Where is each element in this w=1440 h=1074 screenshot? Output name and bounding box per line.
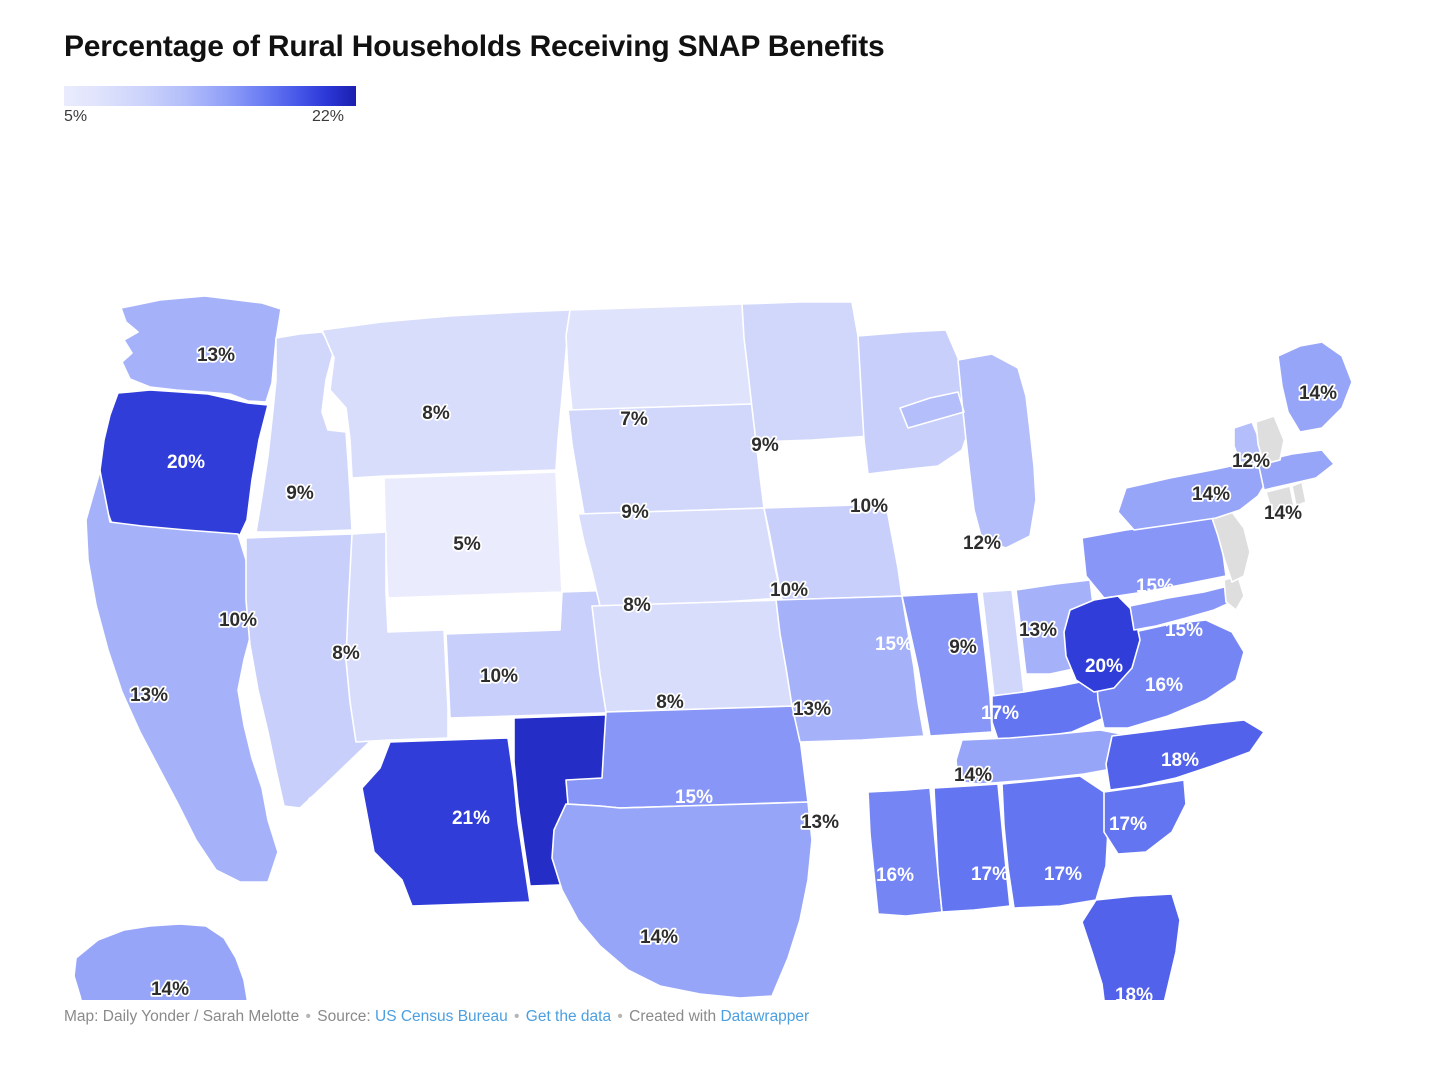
value-label-nd: 7% — [620, 409, 648, 430]
value-label-wv: 20% — [1085, 656, 1123, 677]
state-mo[interactable] — [776, 596, 924, 742]
color-legend: 5% 22% — [64, 86, 356, 128]
legend-gradient-bar — [64, 86, 356, 106]
value-label-ms: 16% — [876, 865, 914, 886]
footer-created-label: Created with — [629, 1008, 716, 1025]
value-label-fl: 18% — [1115, 985, 1153, 1000]
value-label-mo: 13% — [793, 699, 831, 720]
value-label-ok: 15% — [675, 787, 713, 808]
footer-source-label: Source: — [317, 1008, 370, 1025]
value-label-nv: 10% — [219, 610, 257, 631]
value-label-al: 17% — [971, 864, 1009, 885]
value-label-mn: 9% — [751, 435, 779, 456]
value-label-ga: 17% — [1044, 864, 1082, 885]
value-label-ma: 14% — [1264, 503, 1302, 524]
value-label-ar: 13% — [801, 812, 839, 833]
value-label-co: 10% — [480, 666, 518, 687]
state-al[interactable] — [934, 784, 1010, 912]
value-label-sc: 17% — [1109, 814, 1147, 835]
footer-separator-1: • — [304, 1008, 313, 1025]
value-label-vt: 12% — [1232, 451, 1270, 472]
value-label-ak: 14% — [151, 979, 189, 1000]
choropleth-map: 17%14%20%13%13%10%18%17%16%9%15%9%10%8%1… — [0, 140, 1440, 1000]
state-tx[interactable] — [552, 802, 812, 998]
state-mn[interactable] — [742, 302, 870, 442]
state-ga[interactable] — [1002, 776, 1108, 908]
state-ca[interactable] — [86, 471, 278, 882]
get-the-data-link[interactable]: Get the data — [526, 1008, 611, 1025]
page-title: Percentage of Rural Households Receiving… — [64, 30, 885, 64]
value-label-ia: 10% — [770, 580, 808, 601]
chart-container: Percentage of Rural Households Receiving… — [0, 0, 1440, 1074]
legend-min-label: 5% — [64, 108, 87, 126]
value-label-sd: 9% — [621, 502, 649, 523]
state-ms[interactable] — [868, 788, 942, 916]
source-link[interactable]: US Census Bureau — [375, 1008, 508, 1025]
value-label-az: 20% — [307, 794, 345, 815]
value-label-id: 9% — [286, 483, 314, 504]
value-label-mt: 8% — [422, 403, 450, 424]
value-label-or: 20% — [167, 452, 205, 473]
legend-max-label: 22% — [312, 108, 344, 126]
value-label-wy: 5% — [453, 534, 481, 555]
value-label-pa: 15% — [1136, 576, 1174, 597]
value-label-ks: 8% — [656, 692, 684, 713]
value-label-mi: 12% — [963, 533, 1001, 554]
value-label-tx: 14% — [640, 927, 678, 948]
value-label-ne: 8% — [623, 595, 651, 616]
value-label-wa: 13% — [197, 345, 235, 366]
state-nd[interactable] — [566, 304, 752, 410]
datawrapper-link[interactable]: Datawrapper — [720, 1008, 809, 1025]
state-sd[interactable] — [568, 404, 764, 514]
footer-separator-2: • — [512, 1008, 521, 1025]
value-label-va: 16% — [1145, 675, 1183, 696]
state-ks[interactable] — [592, 600, 796, 712]
states-layer — [72, 296, 1352, 1000]
state-az[interactable] — [362, 738, 530, 906]
value-label-ut: 8% — [332, 643, 360, 664]
state-ne[interactable] — [578, 508, 782, 606]
value-label-md: 15% — [1165, 620, 1203, 641]
value-label-ny: 14% — [1192, 484, 1230, 505]
state-mt[interactable] — [322, 310, 570, 478]
legend-tick-labels: 5% 22% — [64, 108, 356, 128]
value-label-la: 22% — [805, 906, 843, 927]
footer-map-credit: Map: Daily Yonder / Sarah Melotte — [64, 1008, 299, 1025]
value-label-nc: 18% — [1161, 750, 1199, 771]
value-label-in: 9% — [949, 637, 977, 658]
value-label-ca: 13% — [130, 685, 168, 706]
value-label-oh: 13% — [1019, 620, 1057, 641]
footer-separator-3: • — [615, 1008, 624, 1025]
value-label-me: 14% — [1299, 383, 1337, 404]
value-label-nm: 21% — [452, 808, 490, 829]
us-map-svg: 17%14%20%13%13%10%18%17%16%9%15%9%10%8%1… — [0, 140, 1440, 1000]
value-label-tn: 14% — [954, 765, 992, 786]
value-label-ky: 17% — [981, 703, 1019, 724]
value-label-wi: 10% — [850, 496, 888, 517]
footer-credits: Map: Daily Yonder / Sarah Melotte • Sour… — [64, 1008, 809, 1026]
value-label-il: 15% — [875, 634, 913, 655]
